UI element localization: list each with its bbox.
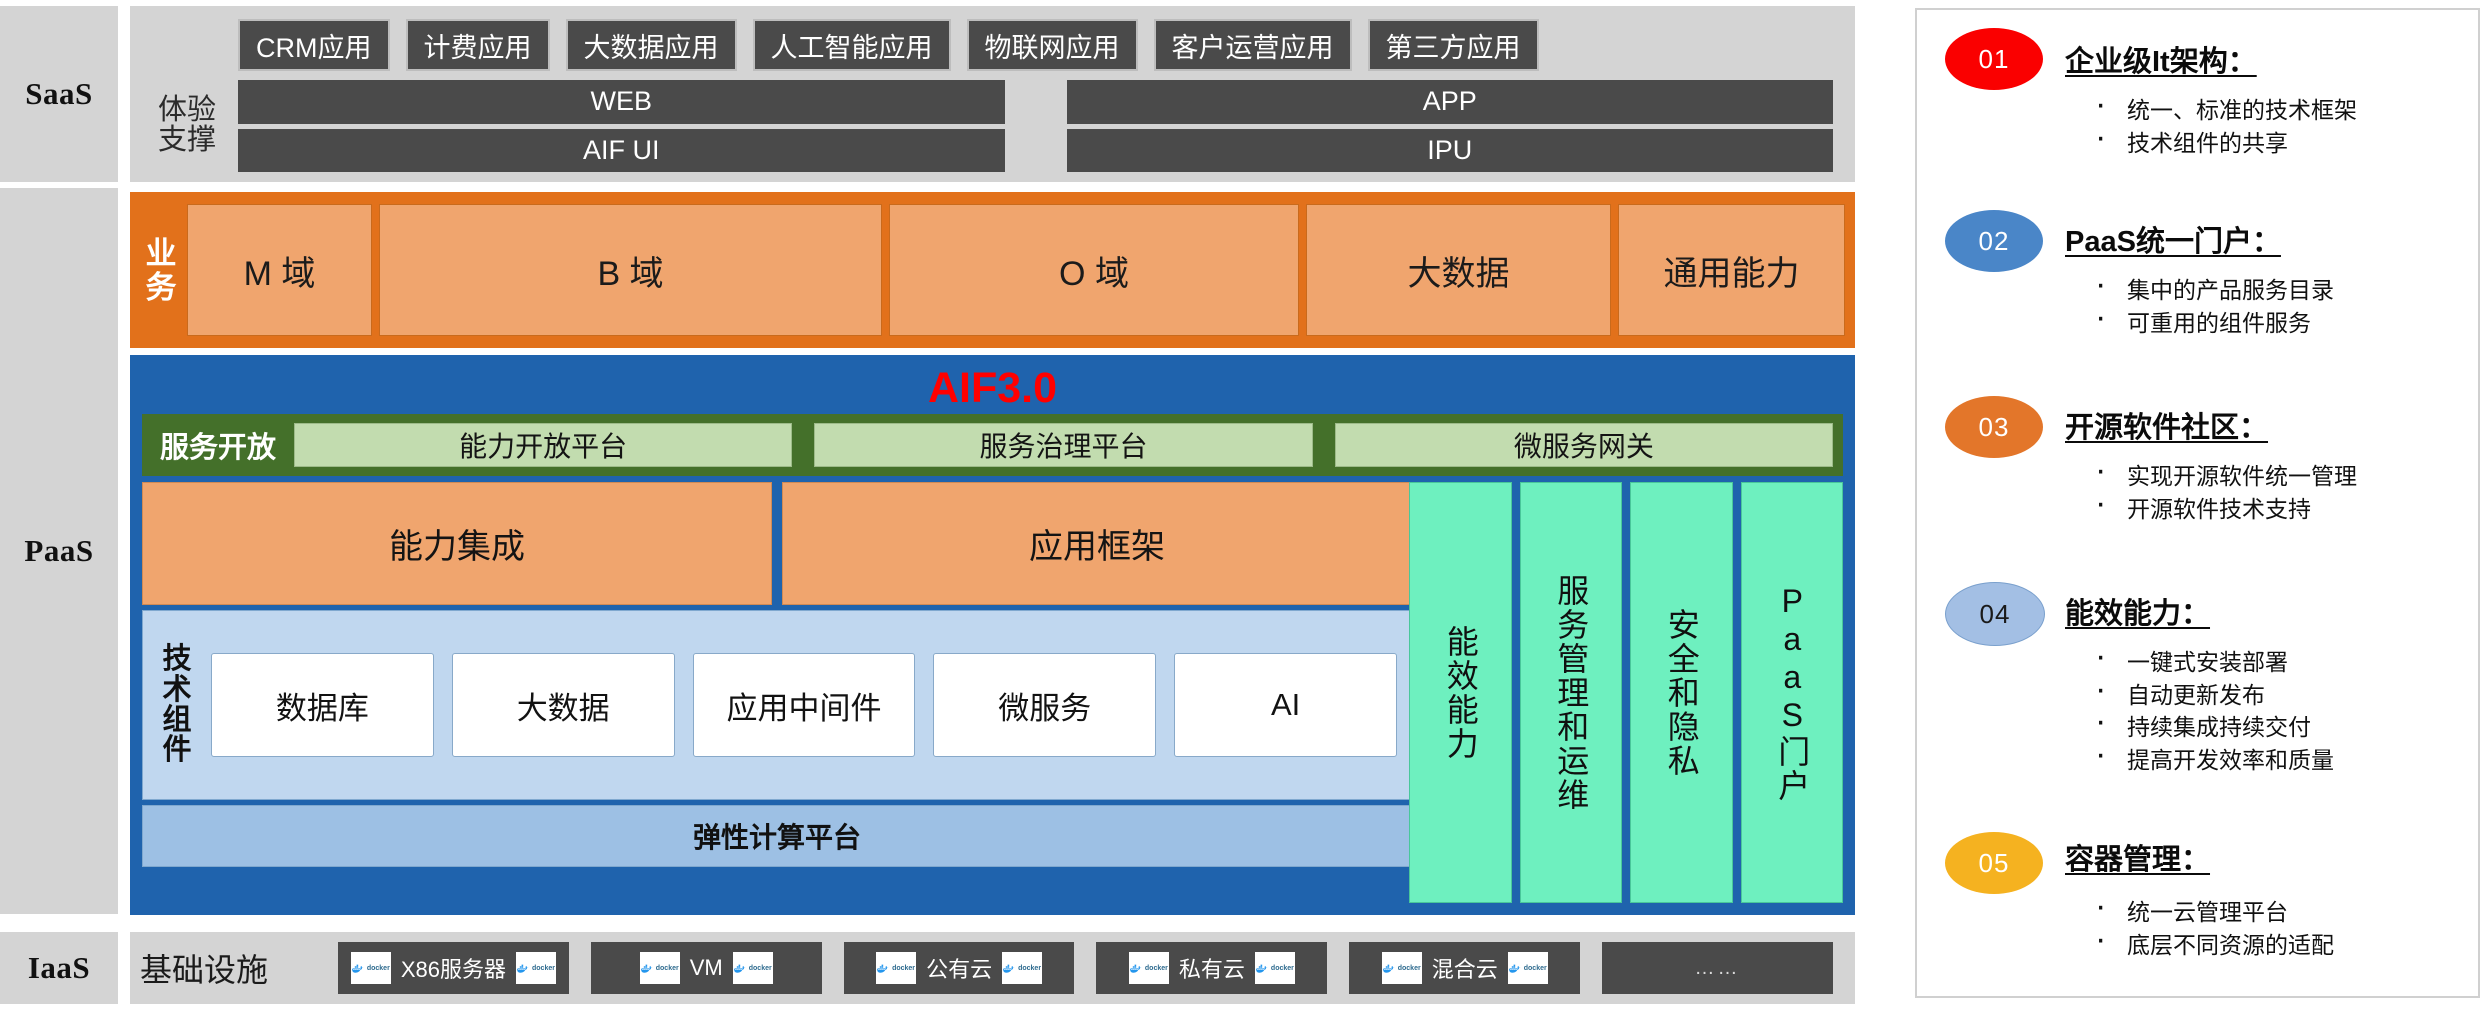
iaas-tile-private-cloud[interactable]: docker 私有云 docker — [1096, 942, 1327, 994]
paas-frame: AIF3.0 服务开放 能力开放平台 服务治理平台 微服务网关 能力集成 应用框… — [130, 355, 1855, 915]
docker-icon: docker — [876, 952, 916, 984]
vertical-column-paas-portal-label: PaaS门户 — [1772, 583, 1811, 803]
highlight-bullets-04: 一键式安装部署 自动更新发布 持续集成持续交付 提高开发效率和质量 — [2087, 646, 2334, 777]
mid-cell-application-framework[interactable]: 应用框架 — [782, 482, 1412, 605]
highlight-bullet: 持续集成持续交付 — [2087, 711, 2334, 744]
highlight-bullet: 底层不同资源的适配 — [2087, 929, 2334, 962]
tech-cell-microservice[interactable]: 微服务 — [933, 653, 1156, 757]
highlight-bullet: 集中的产品服务目录 — [2087, 274, 2334, 307]
business-cells: M 域 B 域 O 域 大数据 通用能力 — [187, 204, 1845, 336]
app-tile-bigdata[interactable]: 大数据应用 — [566, 19, 737, 71]
vertical-column-paas-portal[interactable]: PaaS门户 — [1741, 482, 1844, 903]
app-tile-billing[interactable]: 计费应用 — [406, 19, 550, 71]
docker-icon: docker — [733, 952, 773, 984]
docker-icon-text: docker — [1018, 965, 1041, 972]
service-box-service-governance-platform[interactable]: 服务治理平台 — [814, 423, 1312, 467]
docker-icon: docker — [1129, 952, 1169, 984]
highlight-bullets-05: 统一云管理平台 底层不同资源的适配 — [2087, 896, 2334, 961]
app-tile-iot[interactable]: 物联网应用 — [967, 19, 1138, 71]
service-open-boxes: 能力开放平台 服务治理平台 微服务网关 — [294, 423, 1843, 467]
highlight-bullet: 实现开源软件统一管理 — [2087, 460, 2357, 493]
vertical-column-security-privacy[interactable]: 安全和隐私 — [1630, 482, 1733, 903]
experience-cell-aif-ui[interactable]: AIF UI — [238, 129, 1005, 173]
tech-components-side-label: 技 术 组 件 — [151, 644, 203, 766]
iaas-tile-private-cloud-label: 私有云 — [1179, 952, 1245, 984]
tech-cell-ai[interactable]: AI — [1174, 653, 1397, 757]
experience-cell-ipu[interactable]: IPU — [1067, 129, 1834, 173]
docker-icon-text: docker — [1271, 965, 1294, 972]
experience-label-line2: 支撑 — [158, 125, 216, 155]
app-tile-crm[interactable]: CRM应用 — [238, 19, 390, 71]
experience-cell-web[interactable]: WEB — [238, 80, 1005, 124]
business-cell-m-domain[interactable]: M 域 — [187, 204, 372, 336]
experience-gap-top — [1005, 80, 1067, 124]
layer-label-saas: SaaS — [0, 6, 118, 182]
tech-components-block: 技 术 组 件 数据库 大数据 应用中间件 微服务 AI — [142, 610, 1412, 800]
business-cell-b-domain[interactable]: B 域 — [379, 204, 882, 336]
iaas-tile-x86-server[interactable]: docker X86服务器 docker — [338, 942, 569, 994]
highlight-bullet: 提高开发效率和质量 — [2087, 744, 2334, 777]
highlights-panel: 01 企业级It架构： 统一、标准的技术框架 技术组件的共享 02 PaaS统一… — [1915, 8, 2480, 998]
docker-icon: docker — [516, 952, 556, 984]
docker-icon-text: docker — [1398, 965, 1421, 972]
experience-label-line1: 体验 — [158, 95, 216, 125]
docker-icon: docker — [1002, 952, 1042, 984]
highlight-title-05: 容器管理： — [2065, 836, 2210, 878]
iaas-tile-more[interactable]: …… — [1602, 942, 1833, 994]
highlight-bullet: 一键式安装部署 — [2087, 646, 2334, 679]
iaas-tile-x86-server-label: X86服务器 — [401, 952, 506, 984]
tech-cell-database[interactable]: 数据库 — [211, 653, 434, 757]
docker-icon: docker — [640, 952, 680, 984]
paas-mid-row: 能力集成 应用框架 — [142, 482, 1412, 605]
service-open-strip: 服务开放 能力开放平台 服务治理平台 微服务网关 — [142, 414, 1843, 476]
highlight-bullet: 自动更新发布 — [2087, 679, 2334, 712]
highlight-title-01: 企业级It架构： — [2065, 38, 2257, 80]
layer-label-paas: PaaS — [0, 188, 118, 914]
elastic-computing-platform[interactable]: 弹性计算平台 — [142, 805, 1412, 867]
vertical-column-efficiency[interactable]: 能效能力 — [1409, 482, 1512, 903]
business-band: 业 务 M 域 B 域 O 域 大数据 通用能力 — [130, 192, 1855, 348]
docker-icon-text: docker — [656, 965, 679, 972]
docker-icon: docker — [1508, 952, 1548, 984]
service-box-microservice-gateway[interactable]: 微服务网关 — [1335, 423, 1833, 467]
docker-icon: docker — [1382, 952, 1422, 984]
vertical-column-service-management[interactable]: 服务管理和运维 — [1520, 482, 1623, 903]
app-tile-ai[interactable]: 人工智能应用 — [753, 19, 951, 71]
mid-cell-capability-integration[interactable]: 能力集成 — [142, 482, 772, 605]
service-box-capability-open-platform[interactable]: 能力开放平台 — [294, 423, 792, 467]
iaas-tile-hybrid-cloud[interactable]: docker 混合云 docker — [1349, 942, 1580, 994]
iaas-infrastructure-title: 基础设施 — [140, 932, 268, 1004]
highlight-bullet: 技术组件的共享 — [2087, 127, 2357, 160]
highlight-title-02: PaaS统一门户： — [2065, 218, 2281, 260]
tech-label-char2: 术 — [162, 675, 191, 705]
highlight-bullet: 统一云管理平台 — [2087, 896, 2334, 929]
tech-label-char4: 件 — [162, 735, 191, 765]
highlight-bullet: 开源软件技术支持 — [2087, 493, 2357, 526]
docker-icon-text: docker — [1524, 965, 1547, 972]
highlight-title-03: 开源软件社区： — [2065, 404, 2268, 446]
experience-support-label: 体验 支撑 — [142, 80, 232, 170]
experience-gap-bottom — [1005, 129, 1067, 173]
highlight-bullets-02: 集中的产品服务目录 可重用的组件服务 — [2087, 274, 2334, 339]
business-side-label: 业 务 — [140, 215, 182, 327]
business-side-label-char2: 务 — [146, 271, 177, 305]
vertical-column-service-management-label: 服务管理和运维 — [1551, 574, 1590, 812]
highlight-bullet: 可重用的组件服务 — [2087, 307, 2334, 340]
highlight-badge-01: 01 — [1945, 28, 2043, 90]
service-open-label: 服务开放 — [142, 424, 294, 466]
saas-application-row: CRM应用 计费应用 大数据应用 人工智能应用 物联网应用 客户运营应用 第三方… — [238, 19, 1833, 71]
vertical-column-efficiency-label: 能效能力 — [1441, 625, 1480, 761]
highlight-badge-03: 03 — [1945, 396, 2043, 458]
app-tile-third-party[interactable]: 第三方应用 — [1368, 19, 1539, 71]
highlight-badge-05: 05 — [1945, 832, 2043, 894]
tech-label-char1: 技 — [162, 644, 191, 674]
docker-icon-text: docker — [749, 965, 772, 972]
vertical-column-security-privacy-label: 安全和隐私 — [1662, 608, 1701, 778]
layered-architecture-diagram: SaaS PaaS IaaS CRM应用 计费应用 大数据应用 人工智能应用 物… — [0, 0, 1860, 1010]
docker-icon-text: docker — [892, 965, 915, 972]
highlight-badge-02: 02 — [1945, 210, 2043, 272]
highlight-title-04: 能效能力： — [2065, 590, 2210, 632]
iaas-tile-vm-label: VM — [690, 955, 723, 981]
docker-icon: docker — [351, 952, 391, 984]
experience-cell-app[interactable]: APP — [1067, 80, 1834, 124]
highlight-bullets-03: 实现开源软件统一管理 开源软件技术支持 — [2087, 460, 2357, 525]
business-cell-o-domain[interactable]: O 域 — [889, 204, 1299, 336]
architecture-diagram-page: SaaS PaaS IaaS CRM应用 计费应用 大数据应用 人工智能应用 物… — [0, 0, 2490, 1010]
saas-band: CRM应用 计费应用 大数据应用 人工智能应用 物联网应用 客户运营应用 第三方… — [130, 6, 1855, 182]
layer-label-iaas: IaaS — [0, 932, 118, 1004]
highlight-badge-04: 04 — [1945, 582, 2045, 646]
business-cell-general-capability[interactable]: 通用能力 — [1618, 204, 1845, 336]
iaas-tile-public-cloud[interactable]: docker 公有云 docker — [844, 942, 1075, 994]
aif-version-title: AIF3.0 — [133, 365, 1852, 411]
docker-icon: docker — [1255, 952, 1295, 984]
highlight-bullet: 统一、标准的技术框架 — [2087, 94, 2357, 127]
business-side-label-char1: 业 — [146, 237, 177, 271]
app-tile-customer-ops[interactable]: 客户运营应用 — [1154, 19, 1352, 71]
docker-icon-text: docker — [367, 965, 390, 972]
paas-vertical-columns: 能效能力 服务管理和运维 安全和隐私 PaaS门户 — [1409, 482, 1843, 903]
tech-component-cells: 数据库 大数据 应用中间件 微服务 AI — [203, 653, 1411, 757]
tech-cell-app-middleware[interactable]: 应用中间件 — [693, 653, 916, 757]
iaas-tile-vm[interactable]: docker VM docker — [591, 942, 822, 994]
experience-support-grid: WEB APP AIF UI IPU — [238, 80, 1833, 172]
highlight-bullets-01: 统一、标准的技术框架 技术组件的共享 — [2087, 94, 2357, 159]
iaas-tile-hybrid-cloud-label: 混合云 — [1432, 952, 1498, 984]
business-cell-bigdata[interactable]: 大数据 — [1306, 204, 1611, 336]
iaas-band: 基础设施 docker X86服务器 docker — [130, 932, 1855, 1004]
tech-label-char3: 组 — [162, 705, 191, 735]
iaas-tiles: docker X86服务器 docker docker VM — [338, 942, 1833, 994]
tech-cell-bigdata[interactable]: 大数据 — [452, 653, 675, 757]
docker-icon-text: docker — [1145, 965, 1168, 972]
docker-icon-text: docker — [532, 965, 555, 972]
iaas-tile-public-cloud-label: 公有云 — [926, 952, 992, 984]
